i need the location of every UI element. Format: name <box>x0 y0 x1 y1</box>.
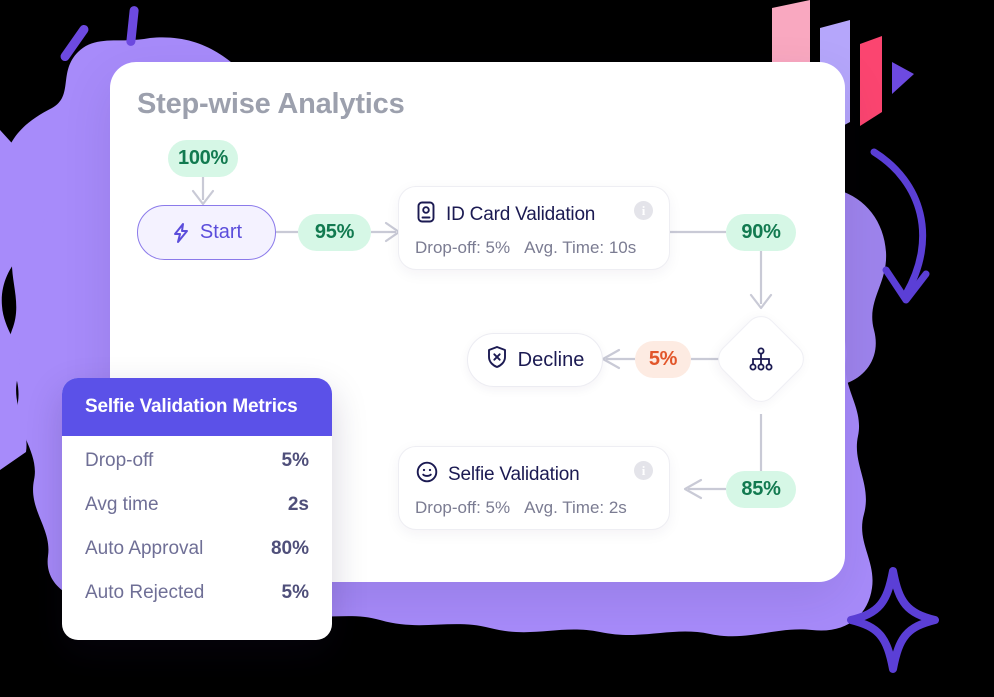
tick-mark-decoration-2 <box>126 6 139 47</box>
step-header: ID Card Validation i <box>415 200 653 229</box>
info-icon[interactable]: i <box>634 461 653 480</box>
step-metrics: Drop-off: 5% Avg. Time: 2s <box>415 498 653 518</box>
metrics-panel-title: Selfie Validation Metrics <box>62 378 332 436</box>
tick-mark-decoration-1 <box>59 23 90 63</box>
flow-node-id-card-validation[interactable]: ID Card Validation i Drop-off: 5% Avg. T… <box>398 186 670 270</box>
step-header: Selfie Validation i <box>415 460 653 489</box>
screenshot-stage: Step-wise Analytics <box>0 0 994 697</box>
badge-start-inflow: 100% <box>168 140 238 177</box>
metric-label: Auto Rejected <box>85 582 204 604</box>
badge-decision-to-selfie: 85% <box>726 471 796 508</box>
badge-id-to-decision: 90% <box>726 214 796 251</box>
badge-decision-to-decline: 5% <box>635 341 691 378</box>
shield-x-icon <box>486 345 508 375</box>
metric-row: Drop-off 5% <box>85 450 309 494</box>
metric-value: 80% <box>271 538 309 560</box>
flow-node-decline[interactable]: Decline <box>467 333 603 387</box>
step-title: ID Card Validation <box>446 204 595 226</box>
smiley-face-icon <box>415 460 439 489</box>
step-dropoff: Drop-off: 5% <box>415 238 510 258</box>
metric-label: Avg time <box>85 494 159 516</box>
step-dropoff: Drop-off: 5% <box>415 498 510 518</box>
id-card-icon <box>415 200 437 229</box>
metric-value: 5% <box>282 582 309 604</box>
info-icon[interactable]: i <box>634 201 653 220</box>
step-avg-time: Avg. Time: 2s <box>524 498 627 518</box>
metrics-panel-body: Drop-off 5% Avg time 2s Auto Approval 80… <box>62 436 332 626</box>
sparkle-star-decoration <box>845 565 941 675</box>
step-avg-time: Avg. Time: 10s <box>524 238 636 258</box>
flow-node-start[interactable]: Start <box>137 205 276 260</box>
selfie-validation-metrics-panel: Selfie Validation Metrics Drop-off 5% Av… <box>62 378 332 640</box>
metric-row: Avg time 2s <box>85 494 309 538</box>
badge-start-to-id: 95% <box>298 214 371 251</box>
curved-arrow-decoration <box>852 148 972 348</box>
flow-node-selfie-validation[interactable]: Selfie Validation i Drop-off: 5% Avg. Ti… <box>398 446 670 530</box>
metric-value: 5% <box>282 450 309 472</box>
step-metrics: Drop-off: 5% Avg. Time: 10s <box>415 238 653 258</box>
metric-row: Auto Approval 80% <box>85 538 309 582</box>
metric-label: Auto Approval <box>85 538 203 560</box>
metric-value: 2s <box>288 494 309 516</box>
metric-row: Auto Rejected 5% <box>85 582 309 626</box>
step-title: Selfie Validation <box>448 464 579 486</box>
lightning-bolt-icon <box>171 222 191 244</box>
start-node-label: Start <box>200 221 242 244</box>
metric-label: Drop-off <box>85 450 153 472</box>
decline-node-label: Decline <box>518 349 585 372</box>
sitemap-icon <box>726 324 796 394</box>
